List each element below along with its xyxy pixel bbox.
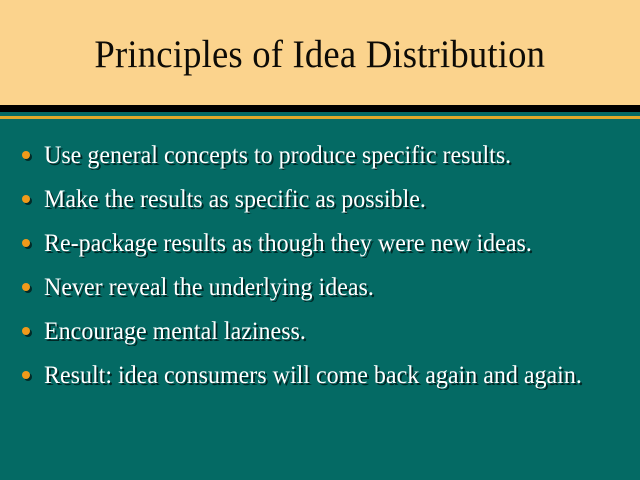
list-item-label: Result: idea consumers will come back ag… bbox=[44, 359, 603, 392]
bullet-dot-icon bbox=[22, 371, 30, 379]
list-item: Encourage mental laziness. bbox=[22, 315, 626, 348]
bullet-marker bbox=[22, 359, 44, 379]
slide-header: Principles of Idea Distribution bbox=[0, 0, 640, 105]
bullet-marker bbox=[22, 183, 44, 203]
bullet-dot-icon bbox=[22, 195, 30, 203]
bullet-marker bbox=[22, 227, 44, 247]
divider-black-rule bbox=[0, 105, 640, 112]
list-item-label: Make the results as specific as possible… bbox=[44, 183, 603, 216]
list-item: Result: idea consumers will come back ag… bbox=[22, 359, 626, 392]
bullet-marker bbox=[22, 139, 44, 159]
list-item: Re-package results as though they were n… bbox=[22, 227, 626, 260]
list-item: Make the results as specific as possible… bbox=[22, 183, 626, 216]
bullet-dot-icon bbox=[22, 151, 30, 159]
list-item-label: Never reveal the underlying ideas. bbox=[44, 271, 603, 304]
bullet-dot-icon bbox=[22, 239, 30, 247]
list-item: Never reveal the underlying ideas. bbox=[22, 271, 626, 304]
bullet-marker bbox=[22, 271, 44, 291]
list-item-label: Use general concepts to produce specific… bbox=[44, 139, 603, 172]
list-item: Use general concepts to produce specific… bbox=[22, 139, 626, 172]
presentation-slide: Principles of Idea Distribution Use gene… bbox=[0, 0, 640, 480]
page-title: Principles of Idea Distribution bbox=[95, 33, 546, 77]
bullet-marker bbox=[22, 315, 44, 335]
list-item-label: Encourage mental laziness. bbox=[44, 315, 603, 348]
bullet-dot-icon bbox=[22, 283, 30, 291]
bullet-dot-icon bbox=[22, 327, 30, 335]
slide-body: Use general concepts to produce specific… bbox=[0, 119, 640, 480]
list-item-label: Re-package results as though they were n… bbox=[44, 227, 603, 260]
